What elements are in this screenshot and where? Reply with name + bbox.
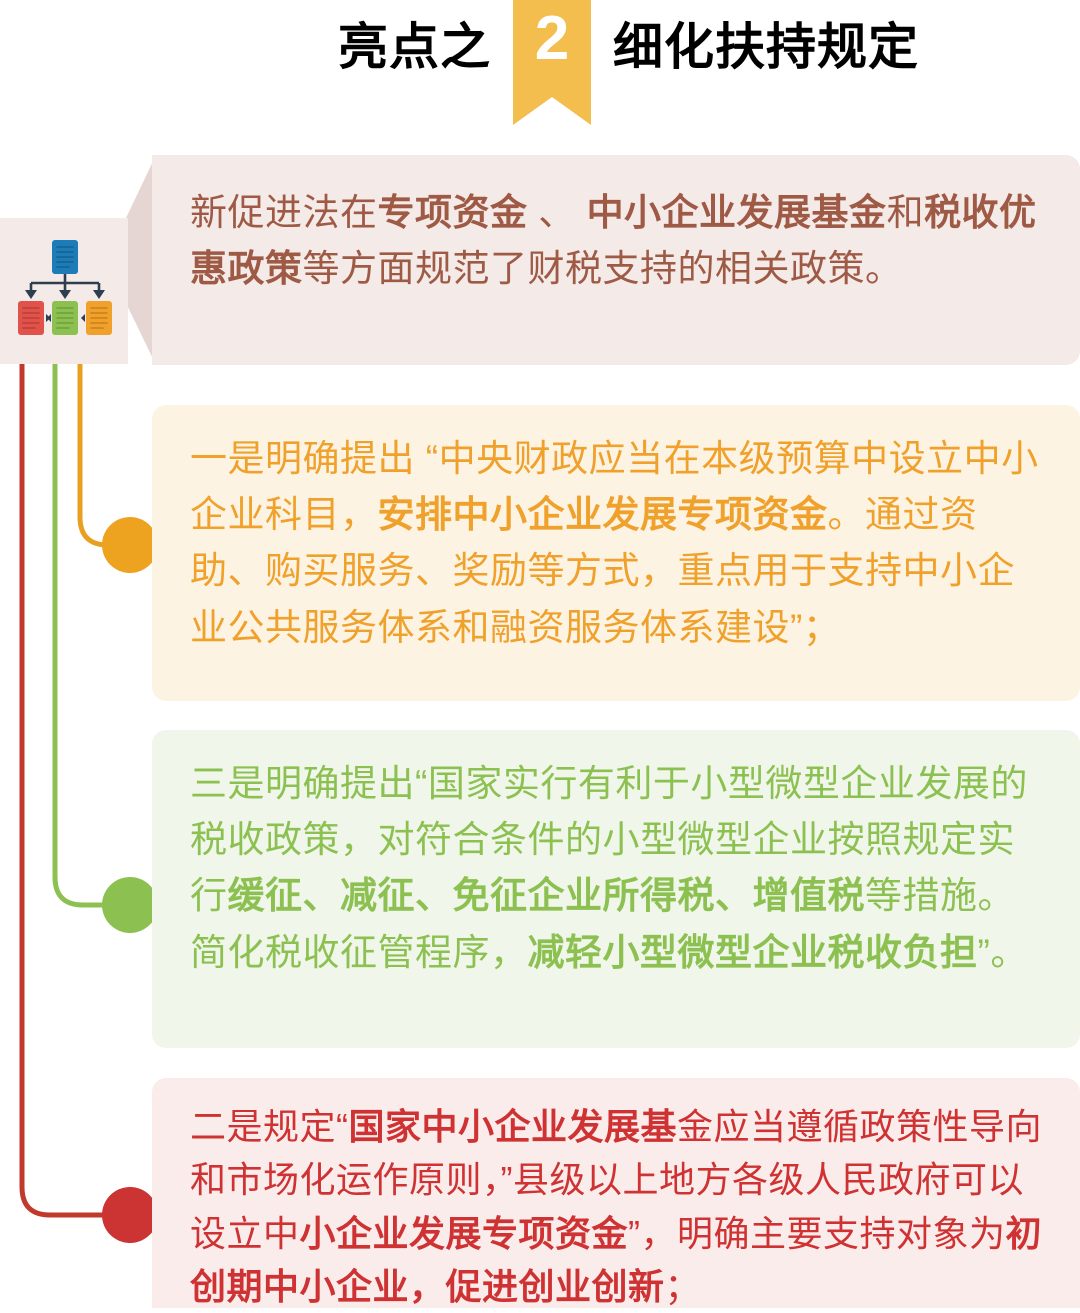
icon-badge: [0, 218, 128, 364]
card-point-three-text: 三是明确提出“国家实行有利于小型微型企业发展的税收政策，对符合条件的小型微型企业…: [190, 756, 1046, 981]
red-connector-dot: [102, 1187, 158, 1243]
card-point-one: 一是明确提出 “中央财政应当在本级预算中设立中小企业科目，安排中小企业发展专项资…: [152, 405, 1080, 701]
orange-connector-dot: [102, 517, 158, 573]
ribbon-badge: 2: [513, 0, 591, 125]
card-intro-text: 新促进法在专项资金 、 中小企业发展基金和税收优惠政策等方面规范了财税支持的相关…: [190, 185, 1046, 297]
header-suffix: 细化扶持规定: [613, 22, 919, 72]
card-intro: 新促进法在专项资金 、 中小企业发展基金和税收优惠政策等方面规范了财税支持的相关…: [152, 155, 1080, 365]
ribbon-number: 2: [513, 8, 591, 70]
card-point-three: 三是明确提出“国家实行有利于小型微型企业发展的税收政策，对符合条件的小型微型企业…: [152, 730, 1080, 1048]
header-prefix: 亮点之: [338, 22, 491, 72]
card-point-one-text: 一是明确提出 “中央财政应当在本级预算中设立中小企业科目，安排中小企业发展专项资…: [190, 431, 1046, 656]
page-header: 亮点之 2 细化扶持规定: [0, 0, 1080, 135]
red-connector-line: [22, 364, 130, 1215]
green-connector-line: [55, 364, 130, 905]
card-point-two-text: 二是规定“国家中小企业发展基金应当遵循政策性导向和市场化运作原则，”县级以上地方…: [190, 1100, 1046, 1313]
orange-connector-line: [80, 364, 130, 545]
header-inner: 亮点之 2 细化扶持规定: [338, 0, 919, 135]
hierarchy-chart-icon: [14, 240, 115, 336]
card-point-two: 二是规定“国家中小企业发展基金应当遵循政策性导向和市场化运作原则，”县级以上地方…: [152, 1078, 1080, 1308]
green-connector-dot: [102, 877, 158, 933]
